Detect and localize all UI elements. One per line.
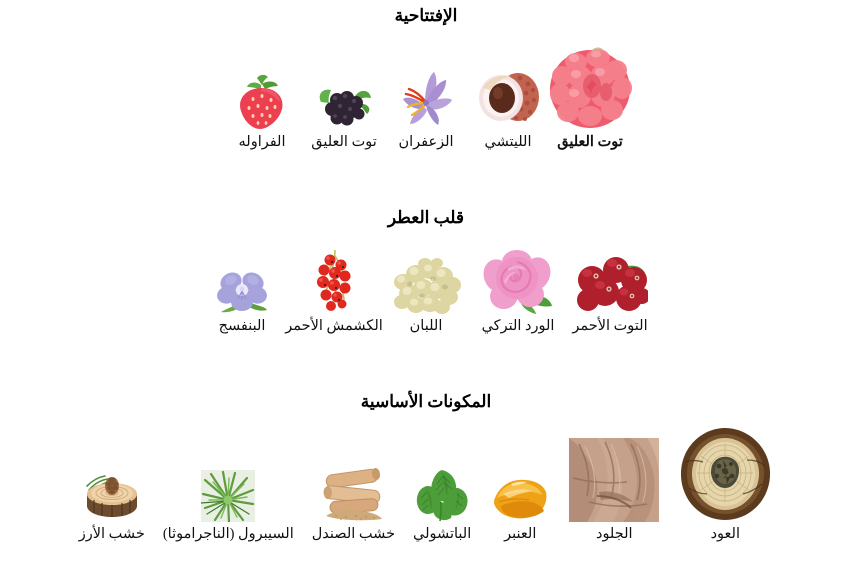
note-item-cypriol[interactable]: السيبرول (الناجراموثا) xyxy=(154,470,303,543)
note-item-frankincense[interactable]: اللبان xyxy=(380,252,472,335)
note-label: العنبر xyxy=(504,525,536,543)
patchouli-icon xyxy=(413,466,471,522)
note-label: توت العليق xyxy=(557,133,623,151)
note-label: الورد التركي xyxy=(482,317,555,335)
cranberry-icon xyxy=(572,254,648,314)
leather-icon xyxy=(569,438,659,522)
violet-icon xyxy=(215,262,269,314)
note-label: الليتشي xyxy=(484,133,531,151)
note-label: العود xyxy=(711,525,740,543)
note-row-base-notes: خشب الأرز xyxy=(0,426,852,543)
section-title-top-notes: الإفتتاحية xyxy=(0,6,852,26)
oud-icon xyxy=(677,426,773,522)
note-row-heart-notes: البنفسج xyxy=(0,246,852,335)
note-row-top-notes: الفراوله xyxy=(0,44,852,151)
note-label: اللبان xyxy=(410,317,443,335)
note-label: البنفسج xyxy=(219,317,266,335)
note-item-strawberry[interactable]: الفراوله xyxy=(221,72,303,151)
sandalwood-icon xyxy=(318,464,388,522)
note-item-rose[interactable]: الورد التركي xyxy=(472,246,564,335)
rose-icon xyxy=(482,246,554,314)
cedarwood-icon xyxy=(81,470,143,522)
note-item-leather[interactable]: الجلود xyxy=(560,438,668,543)
note-label: الفراوله xyxy=(239,133,286,151)
note-item-oud[interactable]: العود xyxy=(668,426,782,543)
amber-icon xyxy=(489,476,551,522)
note-label: خشب الأرز xyxy=(79,525,145,543)
section-heart-notes: قلب العطر xyxy=(0,208,852,336)
note-item-blackberry[interactable]: توت العليق xyxy=(303,80,385,151)
note-label: التوت الأحمر xyxy=(572,317,647,335)
note-label: توت العليق xyxy=(311,133,377,151)
note-item-lychee[interactable]: الليتشي xyxy=(467,64,549,151)
note-item-amber[interactable]: العنبر xyxy=(480,476,560,543)
cypriol-icon xyxy=(201,470,255,522)
section-title-heart-notes: قلب العطر xyxy=(0,208,852,228)
strawberry-icon xyxy=(234,72,290,130)
note-label: الزعفران xyxy=(398,133,453,151)
note-item-cranberry[interactable]: التوت الأحمر xyxy=(564,254,656,335)
redcurrant-icon xyxy=(311,248,357,314)
note-item-saffron[interactable]: الزعفران xyxy=(385,68,467,151)
section-base-notes: المكونات الأساسية xyxy=(0,392,852,544)
note-label: السيبرول (الناجراموثا) xyxy=(163,525,294,543)
blackberry-icon xyxy=(315,80,373,130)
note-item-violet[interactable]: البنفسج xyxy=(196,262,288,335)
note-item-raspberry[interactable]: توت العليق xyxy=(549,44,631,151)
raspberry-icon xyxy=(546,44,634,130)
note-label: خشب الصندل xyxy=(312,525,395,543)
note-label: الجلود xyxy=(596,525,633,543)
fragrance-pyramid-page: الإفتتاحية xyxy=(0,0,852,584)
note-item-cedarwood[interactable]: خشب الأرز xyxy=(70,470,154,543)
saffron-icon xyxy=(395,68,457,130)
frankincense-icon xyxy=(389,252,463,314)
note-item-redcurrant[interactable]: الكشمش الأحمر xyxy=(288,248,380,335)
note-label: الكشمش الأحمر xyxy=(285,317,383,335)
section-title-base-notes: المكونات الأساسية xyxy=(0,392,852,412)
note-label: الباتشولي xyxy=(413,525,471,543)
note-item-sandalwood[interactable]: خشب الصندل xyxy=(303,464,404,543)
note-item-patchouli[interactable]: الباتشولي xyxy=(404,466,480,543)
section-top-notes: الإفتتاحية xyxy=(0,6,852,152)
lychee-icon xyxy=(475,64,541,130)
